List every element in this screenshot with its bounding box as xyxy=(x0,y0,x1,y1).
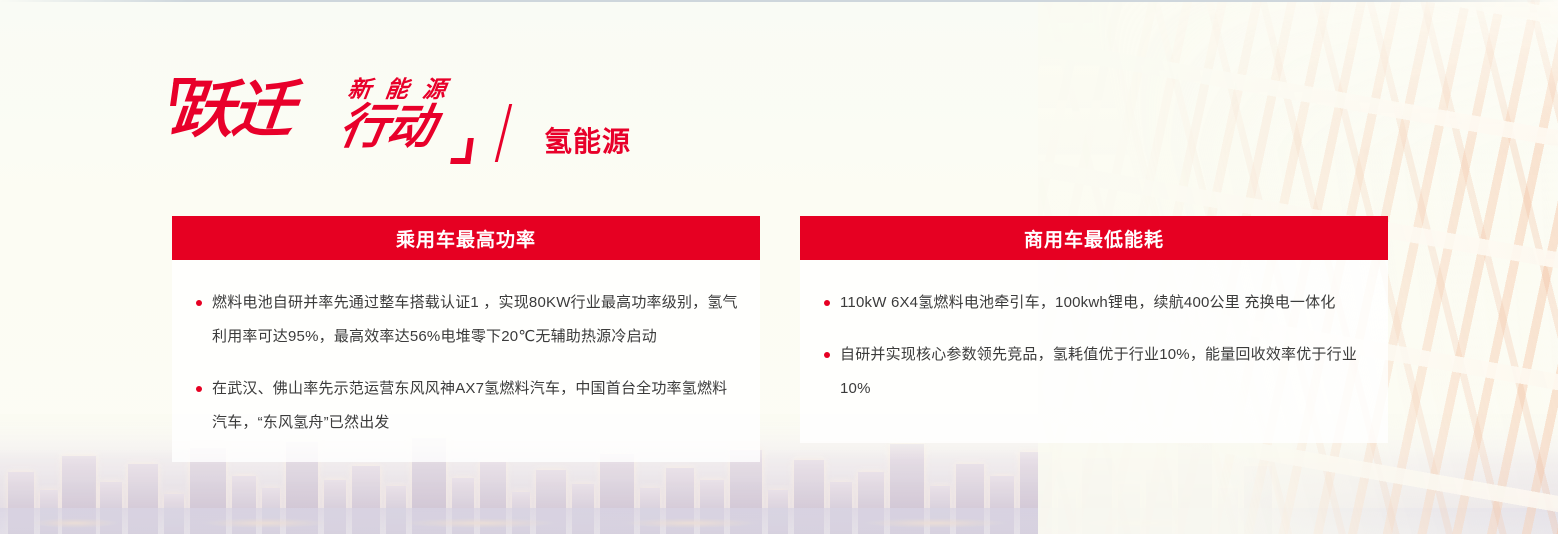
brand-logo: 跃迁 新 能 源 行动 xyxy=(172,74,462,174)
bracket-close-mark xyxy=(450,138,474,164)
river-band xyxy=(0,508,1558,534)
list-item: 110kW 6X4氢燃料电池牵引车，100kwh锂电，续航400公里 充换电一体… xyxy=(822,286,1366,320)
card-header-commercial: 商用车最低能耗 xyxy=(800,216,1388,260)
logo-main-text: 跃迁 xyxy=(169,80,296,142)
list-item: 自研并实现核心参数领先竞品，氢耗值优于行业10%，能量回收效率优于行业10% xyxy=(822,338,1366,406)
card-body-passenger: 燃料电池自研并率先通过整车搭载认证1 ，实现80KW行业最高功率级别，氢气利用率… xyxy=(172,260,760,462)
bullet-list-commercial: 110kW 6X4氢燃料电池牵引车，100kwh锂电，续航400公里 充换电一体… xyxy=(822,286,1366,406)
card-header-passenger: 乘用车最高功率 xyxy=(172,216,760,260)
page-root: 跃迁 新 能 源 行动 氢能源 乘用车最高功率 燃料电池自研并率先通过整车搭载认… xyxy=(0,0,1558,534)
card-body-commercial: 110kW 6X4氢燃料电池牵引车，100kwh锂电，续航400公里 充换电一体… xyxy=(800,260,1388,443)
logo-lockup: 跃迁 新 能 源 行动 xyxy=(172,76,462,172)
top-hairline-divider xyxy=(0,0,1558,2)
list-item: 在武汉、佛山率先示范运营东风风神AX7氢燃料汽车，中国首台全功率氢燃料汽车，“东… xyxy=(194,372,738,440)
list-item: 燃料电池自研并率先通过整车搭载认证1 ，实现80KW行业最高功率级别，氢气利用率… xyxy=(194,286,738,354)
brand-category-label: 氢能源 xyxy=(544,120,631,160)
brand-slash-divider xyxy=(495,104,512,162)
bullet-list-passenger: 燃料电池自研并率先通过整车搭载认证1 ，实现80KW行业最高功率级别，氢气利用率… xyxy=(194,286,738,440)
logo-subtitle-bottom: 行动 xyxy=(336,104,438,152)
card-passenger-vehicle: 乘用车最高功率 燃料电池自研并率先通过整车搭载认证1 ，实现80KW行业最高功率… xyxy=(172,216,760,462)
card-commercial-vehicle: 商用车最低能耗 110kW 6X4氢燃料电池牵引车，100kwh锂电，续航400… xyxy=(800,216,1388,443)
logo-subtitle-top: 新 能 源 xyxy=(346,78,451,101)
